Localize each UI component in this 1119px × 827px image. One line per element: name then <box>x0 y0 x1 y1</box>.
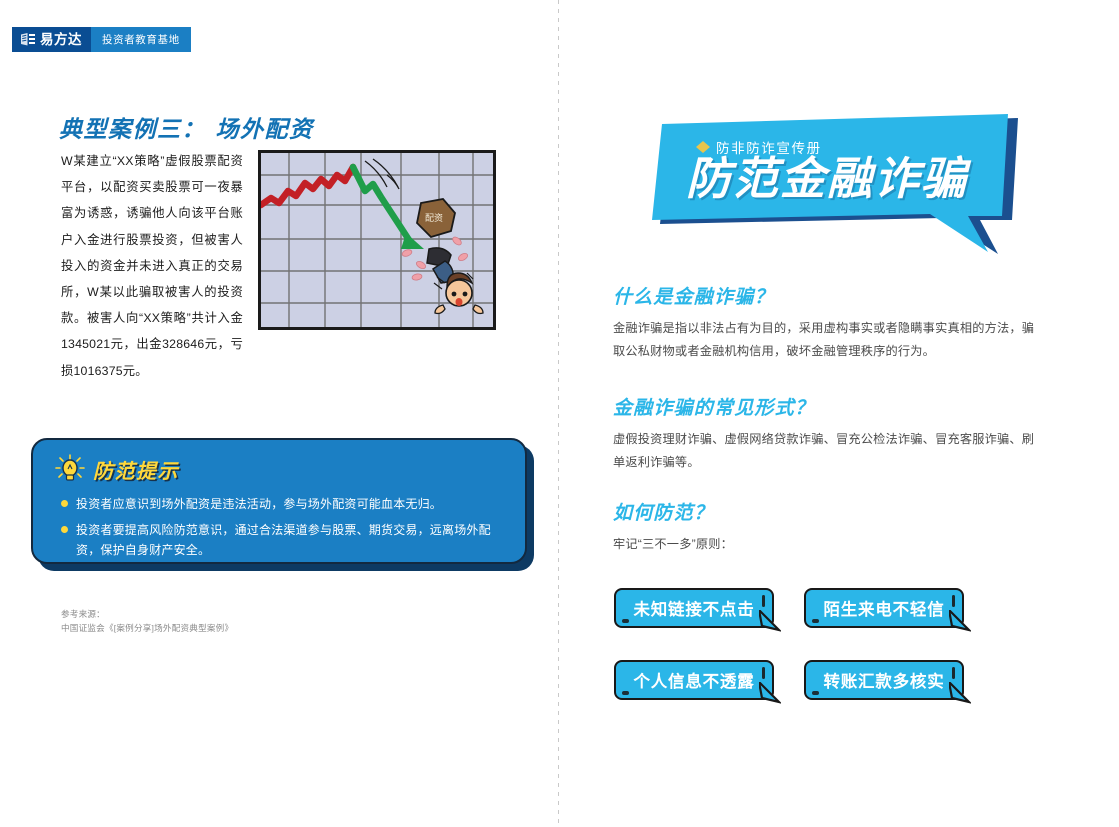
section-heading-common-forms: 金融诈骗的常见形式？ <box>613 393 815 420</box>
bubble-notch-icon <box>812 691 819 695</box>
prevention-tips-card: 防范提示 投资者应意识到场外配资是违法活动，参与场外配资可能血本无归。 投资者要… <box>31 438 527 564</box>
brochure-banner: 防非防诈宣传册 防范金融诈骗 <box>650 112 1022 260</box>
section-paragraph-what-is: 金融诈骗是指以非法占有为目的，采用虚构事实或者隐瞒事实真相的方法，骗取公私财物或… <box>613 317 1045 363</box>
brochure-page: 易方达 投资者教育基地 典型案例三： 场外配资 W某建立“XX策略”虚假股票配资… <box>0 0 1119 827</box>
section-heading-how-to-prevent: 如何防范？ <box>613 498 714 525</box>
stock-crash-illustration: 配资 <box>258 150 496 330</box>
bubble-tail-icon <box>949 610 971 632</box>
case-title: 典型案例三： 场外配资 <box>59 110 314 144</box>
bubble-tail-icon <box>759 682 781 704</box>
tip-bubble-verify-transfers[interactable]: 转账汇款多核实 <box>804 660 964 700</box>
rock-label: 配资 <box>425 213 443 224</box>
section-paragraph-common-forms: 虚假投资理财诈骗、虚假网络贷款诈骗、冒充公检法诈骗、冒充客服诈骗、刷单返利诈骗等… <box>613 428 1045 474</box>
brand-name: 易方达 <box>40 33 82 47</box>
tips-list: 投资者应意识到场外配资是违法活动，参与场外配资可能血本无归。 投资者要提高风险防… <box>53 494 505 561</box>
bubble-notch-icon <box>762 667 766 679</box>
header-logo-bar: 易方达 投资者教育基地 <box>12 27 191 52</box>
bubble-notch-icon <box>952 595 956 607</box>
brand-subtitle[interactable]: 投资者教育基地 <box>91 27 191 52</box>
bubble-notch-icon <box>952 667 956 679</box>
case-body-text: W某建立“XX策略”虚假股票配资平台，以配资买卖股票可一夜暴富为诱惑，诱骗他人向… <box>61 148 243 384</box>
tip-bubble-text: 个人信息不透露 <box>633 668 754 692</box>
reference-block: 参考来源： 中国证监会《[案例分享]场外配资典型案例》 <box>61 607 233 635</box>
tip-bubble-text: 未知链接不点击 <box>633 596 754 620</box>
reference-label: 参考来源： <box>61 607 233 621</box>
yifangda-logo-icon <box>20 32 36 47</box>
page-divider <box>558 0 559 827</box>
bubble-notch-icon <box>622 691 629 695</box>
reference-value: 中国证监会《[案例分享]场外配资典型案例》 <box>61 621 233 635</box>
tips-heading: 防范提示 <box>93 455 179 484</box>
section-paragraph-how-to-prevent: 牢记“三不一多”原则： <box>613 533 1045 556</box>
tips-item-text: 投资者应意识到场外配资是违法活动，参与场外配资可能血本无归。 <box>76 494 442 515</box>
tip-bubble-text: 转账汇款多核实 <box>823 668 944 692</box>
brand-block[interactable]: 易方达 <box>12 27 91 52</box>
list-item: 投资者应意识到场外配资是违法活动，参与场外配资可能血本无归。 <box>61 494 499 515</box>
section-heading-what-is: 什么是金融诈骗？ <box>613 282 775 309</box>
bullet-dot-icon <box>61 526 68 533</box>
bubble-notch-icon <box>622 619 629 623</box>
list-item: 投资者要提高风险防范意识，通过合法渠道参与股票、期货交易，远离场外配资，保护自身… <box>61 520 499 561</box>
tip-bubble-text: 陌生来电不轻信 <box>823 596 944 620</box>
banner-title: 防范金融诈骗 <box>686 153 968 205</box>
bubble-tail-icon <box>949 682 971 704</box>
tip-bubble-unknown-links[interactable]: 未知链接不点击 <box>614 588 774 628</box>
tips-header: 防范提示 <box>53 453 505 485</box>
bubble-notch-icon <box>812 619 819 623</box>
illustration-svg: 配资 <box>261 153 493 327</box>
tip-bubble-stranger-calls[interactable]: 陌生来电不轻信 <box>804 588 964 628</box>
tips-item-text: 投资者要提高风险防范意识，通过合法渠道参与股票、期货交易，远离场外配资，保护自身… <box>76 520 499 561</box>
tip-bubble-personal-info[interactable]: 个人信息不透露 <box>614 660 774 700</box>
bubble-tail-icon <box>759 610 781 632</box>
lightbulb-icon <box>53 454 87 484</box>
bubble-notch-icon <box>762 595 766 607</box>
bullet-dot-icon <box>61 500 68 507</box>
